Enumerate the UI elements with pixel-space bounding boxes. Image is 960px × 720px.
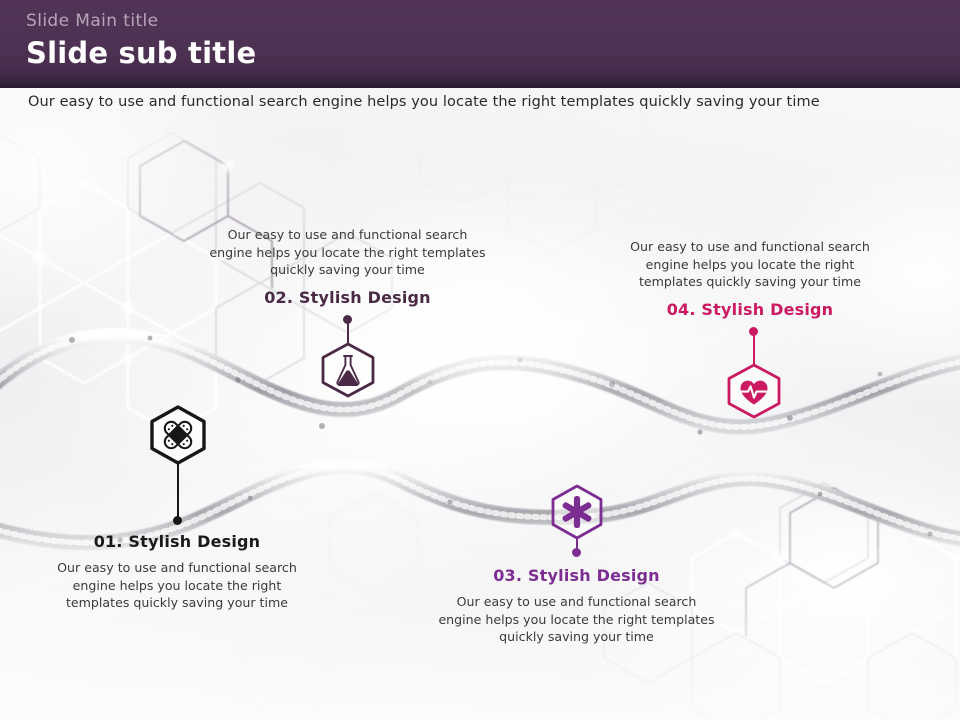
callout-02-title: 02. Stylish Design (205, 288, 490, 307)
callout-03-stem-dot (572, 548, 581, 557)
medical-asterisk-icon[interactable] (547, 484, 607, 540)
slide-canvas: Slide Main title Slide sub title Our eas… (0, 0, 960, 720)
callout-01-body-line-1: Our easy to use and functional search (52, 559, 302, 577)
callout-01[interactable]: 01. Stylish Design Our easy to use and f… (52, 532, 302, 612)
callout-02-stem (347, 322, 349, 344)
callout-01-body: Our easy to use and functional search en… (52, 559, 302, 612)
callout-04-body: Our easy to use and functional search en… (620, 238, 880, 291)
callout-02[interactable]: Our easy to use and functional search en… (205, 226, 490, 307)
callout-04-title: 04. Stylish Design (620, 300, 880, 319)
bandage-cross-icon[interactable] (147, 405, 209, 465)
callout-01-title: 01. Stylish Design (52, 532, 302, 551)
callout-01-body-line-3: templates quickly saving your time (52, 594, 302, 612)
callout-04-body-line-1: Our easy to use and functional search (620, 238, 880, 256)
lab-flask-icon[interactable] (317, 342, 379, 398)
callout-01-stem-dot (173, 516, 182, 525)
slide-sub-title: Slide sub title (26, 36, 256, 70)
callout-04-body-line-2: engine helps you locate the right (620, 256, 880, 274)
callout-04[interactable]: Our easy to use and functional search en… (620, 238, 880, 319)
callout-01-body-line-2: engine helps you locate the right (52, 577, 302, 595)
heart-pulse-icon[interactable] (723, 363, 785, 419)
callout-03-body-line-1: Our easy to use and functional search (434, 593, 719, 611)
callout-02-body-line-1: Our easy to use and functional search (205, 226, 490, 244)
callout-03-body: Our easy to use and functional search en… (434, 593, 719, 646)
callout-02-body: Our easy to use and functional search en… (205, 226, 490, 279)
callout-04-body-line-3: templates quickly saving your time (620, 273, 880, 291)
callout-03-body-line-2: engine helps you locate the right templa… (434, 611, 719, 629)
slide-main-title: Slide Main title (26, 11, 159, 31)
callout-02-body-line-3: quickly saving your time (205, 261, 490, 279)
callout-03-body-line-3: quickly saving your time (434, 628, 719, 646)
slide-lead-text: Our easy to use and functional search en… (28, 94, 928, 110)
callout-03-title: 03. Stylish Design (434, 566, 719, 585)
callout-02-body-line-2: engine helps you locate the right templa… (205, 244, 490, 262)
callout-03[interactable]: 03. Stylish Design Our easy to use and f… (434, 566, 719, 646)
slide-header: Slide Main title Slide sub title (0, 0, 960, 88)
callout-04-stem (753, 334, 755, 365)
callout-01-stem (177, 462, 179, 520)
